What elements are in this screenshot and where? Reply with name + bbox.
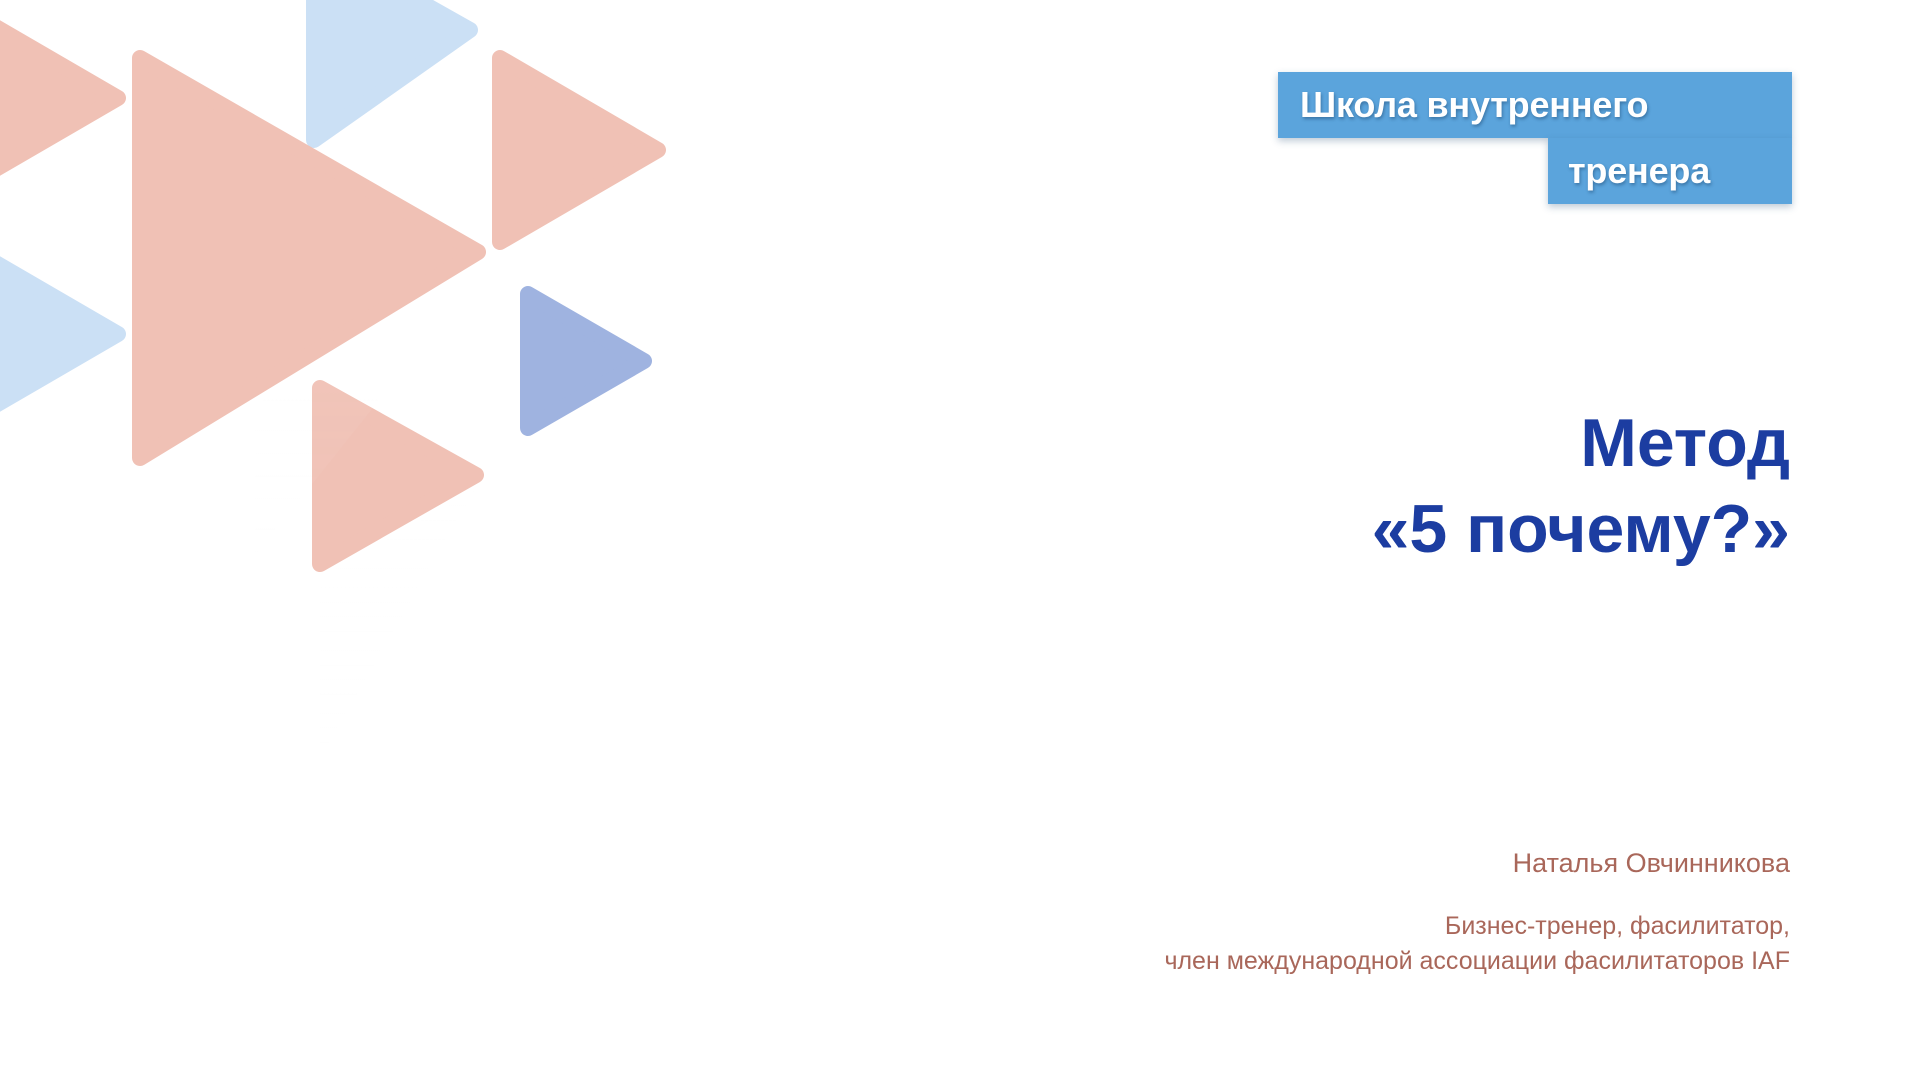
author-role-line-2: член международной ассоциации фасилитато… [700,944,1790,979]
pink-triangle-right [500,58,658,242]
light-blue-triangle-left [0,190,118,478]
author-credits: Наталья Овчинникова Бизнес-тренер, фасил… [700,845,1790,979]
presentation-slide: Школа внутреннего тренера Метод «5 почем… [0,0,1920,1080]
slide-title: Метод «5 почему?» [1000,400,1790,572]
title-line-2: «5 почему?» [1000,486,1790,572]
triangle-decoration [0,0,860,820]
logo-text-line-2: тренера [1568,138,1710,204]
pink-triangle-large-center [140,58,478,458]
light-blue-triangle-top [314,0,470,140]
logo-text-line-1: Школа внутреннего [1300,72,1648,138]
school-logo: Школа внутреннего тренера [1278,72,1798,208]
triangle-reflections [140,276,644,760]
pink-triangle-lower [320,388,476,564]
author-role: Бизнес-тренер, фасилитатор, член междуна… [700,909,1790,979]
author-role-line-1: Бизнес-тренер, фасилитатор, [700,909,1790,944]
title-line-1: Метод [1000,400,1790,486]
author-name: Наталья Овчинникова [700,845,1790,881]
pink-triangle-top-left-clipped [0,0,118,242]
periwinkle-triangle [528,294,644,428]
